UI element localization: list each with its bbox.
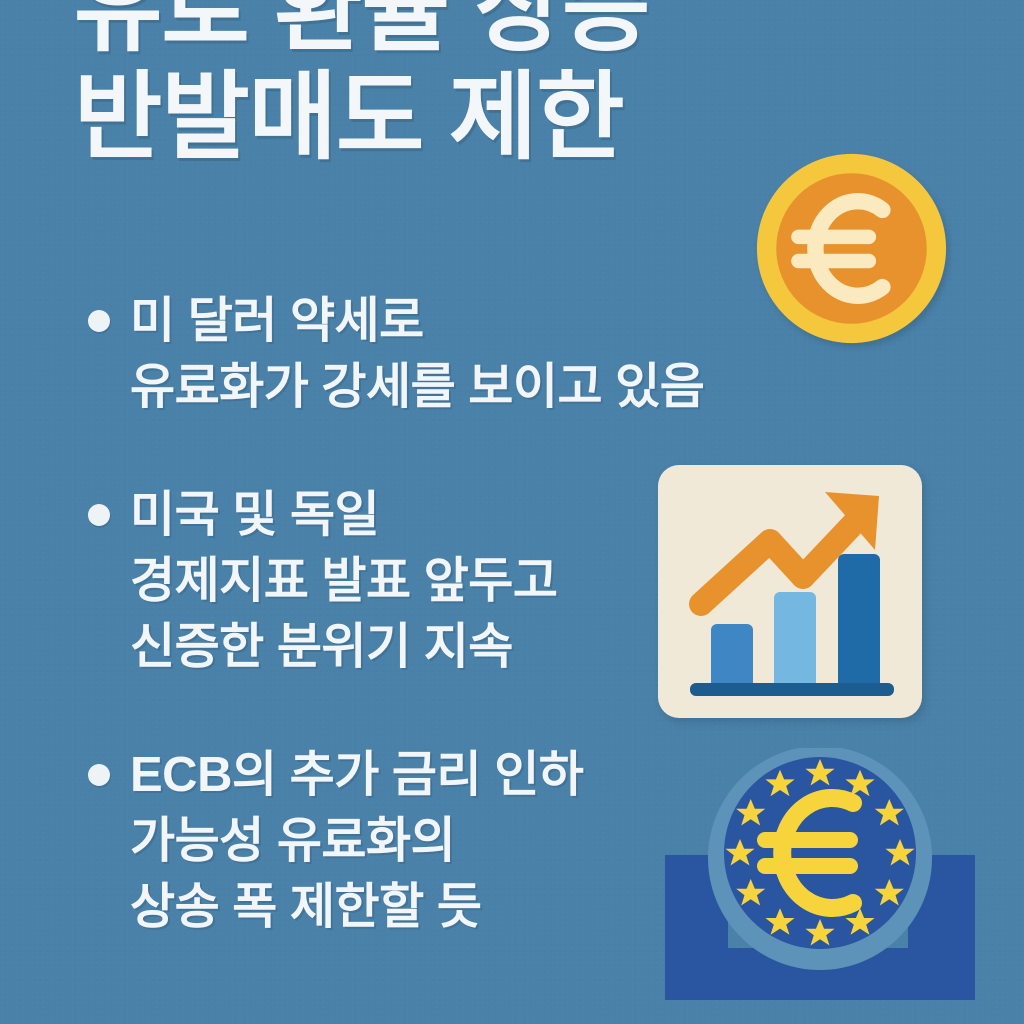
infographic-poster: 유로 환율 상승 반발매도 제한 미 달러 약세로 유료화가 강세를 보이고 있… xyxy=(0,0,1024,1024)
bullet-dot-icon xyxy=(88,504,110,526)
bullet-3-line-2: 가능성 유료화의 xyxy=(130,808,808,874)
bullet-item-1: 미 달러 약세로 유료화가 강세를 보이고 있음 xyxy=(88,288,808,420)
title-line-2: 반발매도 제한 xyxy=(74,64,794,172)
bullet-1-line-1: 미 달러 약세로 xyxy=(130,288,808,354)
bullet-item-2-text: 미국 및 독일 경제지표 발표 앞두고 신증한 분위기 지속 xyxy=(130,482,808,680)
poster-title: 유로 환율 상승 반발매도 제한 xyxy=(74,0,794,172)
bullet-2-line-3: 신증한 분위기 지속 xyxy=(130,614,808,680)
bullet-list: 미 달러 약세로 유료화가 강세를 보이고 있음 미국 및 독일 경제지표 발표… xyxy=(88,288,808,940)
bullet-2-line-1: 미국 및 독일 xyxy=(130,482,808,548)
bullet-item-3: ECB의 추가 금리 인하 가능성 유료화의 상송 폭 제한할 듯 xyxy=(88,742,808,940)
bullet-item-1-text: 미 달러 약세로 유료화가 강세를 보이고 있음 xyxy=(130,288,808,420)
title-line-1: 유로 환율 상승 xyxy=(74,0,794,64)
bullet-item-3-text: ECB의 추가 금리 인하 가능성 유료화의 상송 폭 제한할 듯 xyxy=(130,742,808,940)
bullet-dot-icon xyxy=(88,310,110,332)
chart-bar-3 xyxy=(838,554,880,691)
bullet-3-line-3: 상송 폭 제한할 듯 xyxy=(130,874,808,940)
bullet-item-2: 미국 및 독일 경제지표 발표 앞두고 신증한 분위기 지속 xyxy=(88,482,808,680)
bullet-dot-icon xyxy=(88,764,110,786)
bullet-1-line-2: 유료화가 강세를 보이고 있음 xyxy=(130,354,808,420)
bullet-2-line-2: 경제지표 발표 앞두고 xyxy=(130,548,808,614)
bullet-3-line-1: ECB의 추가 금리 인하 xyxy=(130,742,808,808)
